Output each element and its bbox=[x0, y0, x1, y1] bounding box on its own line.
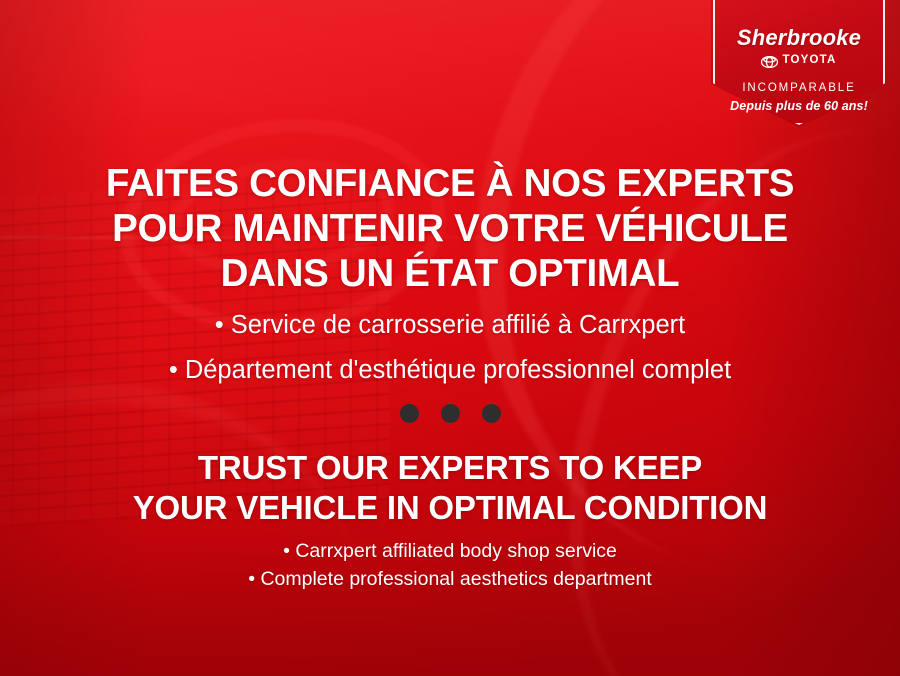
french-headline-line-2: POUR MAINTENIR VOTRE VÉHICULE bbox=[0, 206, 900, 251]
french-headline-line-3: DANS UN ÉTAT OPTIMAL bbox=[0, 251, 900, 296]
section-divider-dots bbox=[0, 404, 900, 423]
french-bullet-1: • Service de carrosserie affilié à Carrx… bbox=[0, 303, 900, 348]
french-headline: FAITES CONFIANCE À NOS EXPERTS POUR MAIN… bbox=[0, 161, 900, 296]
french-bullet-2: • Département d'esthétique professionnel… bbox=[0, 348, 900, 393]
french-bullet-list: • Service de carrosserie affilié à Carrx… bbox=[0, 303, 900, 393]
english-bullet-2: • Complete professional aesthetics depar… bbox=[0, 565, 900, 593]
promotional-banner: Sherbrooke TOYOTA INCOMPARABLE Depuis pl… bbox=[0, 0, 900, 676]
english-headline-line-2: YOUR VEHICLE IN OPTIMAL CONDITION bbox=[0, 488, 900, 528]
french-headline-line-1: FAITES CONFIANCE À NOS EXPERTS bbox=[0, 161, 900, 206]
divider-dot bbox=[482, 404, 501, 423]
divider-dot bbox=[441, 404, 460, 423]
english-headline: TRUST OUR EXPERTS TO KEEP YOUR VEHICLE I… bbox=[0, 448, 900, 528]
banner-content: FAITES CONFIANCE À NOS EXPERTS POUR MAIN… bbox=[0, 0, 900, 676]
english-bullet-1: • Carrxpert affiliated body shop service bbox=[0, 537, 900, 565]
divider-dot bbox=[400, 404, 419, 423]
english-headline-line-1: TRUST OUR EXPERTS TO KEEP bbox=[0, 448, 900, 488]
english-bullet-list: • Carrxpert affiliated body shop service… bbox=[0, 537, 900, 593]
